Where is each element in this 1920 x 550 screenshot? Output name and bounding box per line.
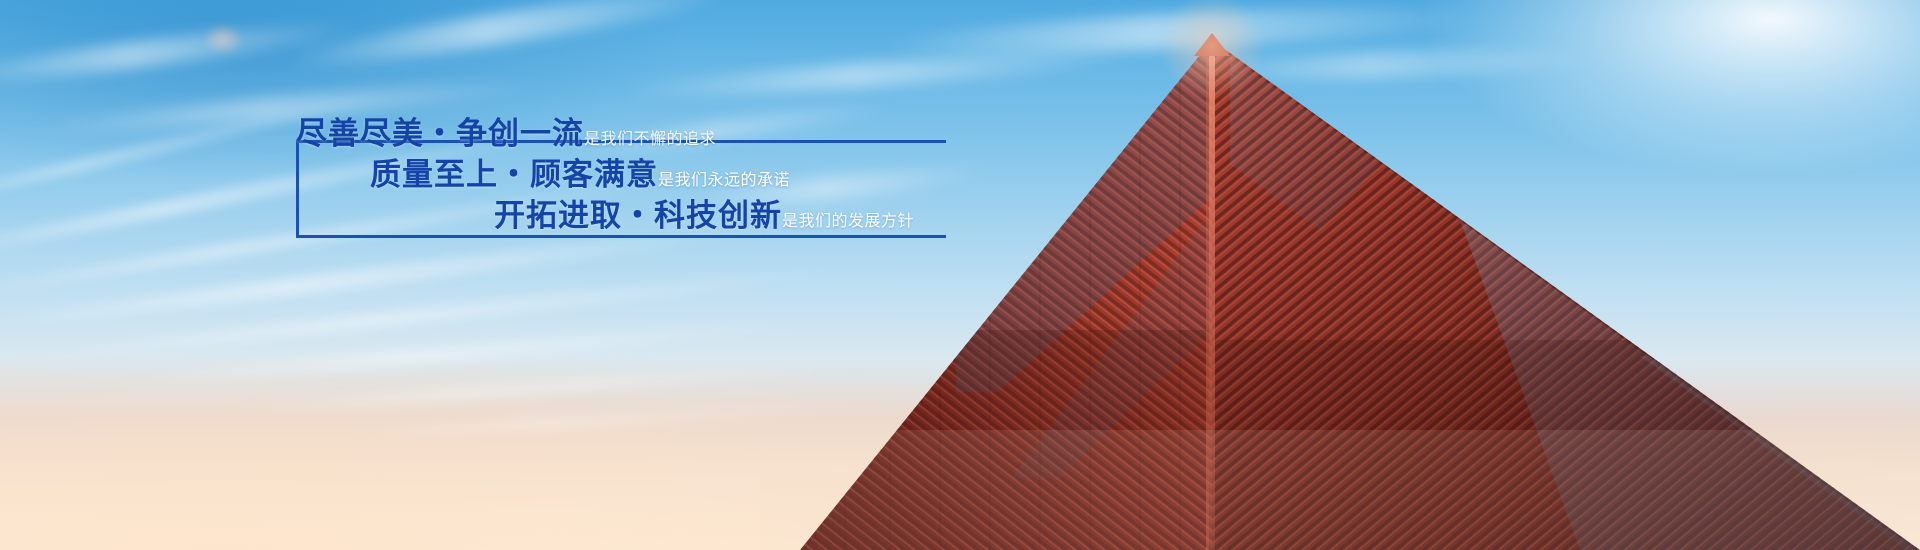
slogan-subtext-2: 是我们永远的承诺 bbox=[658, 172, 790, 189]
slogan-headline-2: 质量至上・顾客满意 bbox=[370, 157, 658, 192]
slogan-line-3: 开拓进取・科技创新是我们的发展方针 bbox=[296, 200, 956, 231]
slogan-line-2: 质量至上・顾客满意是我们永远的承诺 bbox=[296, 159, 956, 190]
cloud-wisp bbox=[280, 0, 739, 78]
slogan-headline-3: 开拓进取・科技创新 bbox=[494, 198, 782, 233]
slogan-headline-1: 尽善尽美・争创一流 bbox=[296, 116, 584, 151]
slogan-line-1: 尽善尽美・争创一流是我们不懈的追求 bbox=[296, 118, 956, 149]
hero-banner: 尽善尽美・争创一流是我们不懈的追求 质量至上・顾客满意是我们永远的承诺 开拓进取… bbox=[0, 0, 1920, 550]
slogan-subtext-1: 是我们不懈的追求 bbox=[584, 131, 716, 148]
slogan-subtext-3: 是我们的发展方针 bbox=[782, 213, 914, 230]
building-photo bbox=[760, 0, 1920, 550]
slogan-group: 尽善尽美・争创一流是我们不懈的追求 质量至上・顾客满意是我们永远的承诺 开拓进取… bbox=[296, 118, 956, 231]
